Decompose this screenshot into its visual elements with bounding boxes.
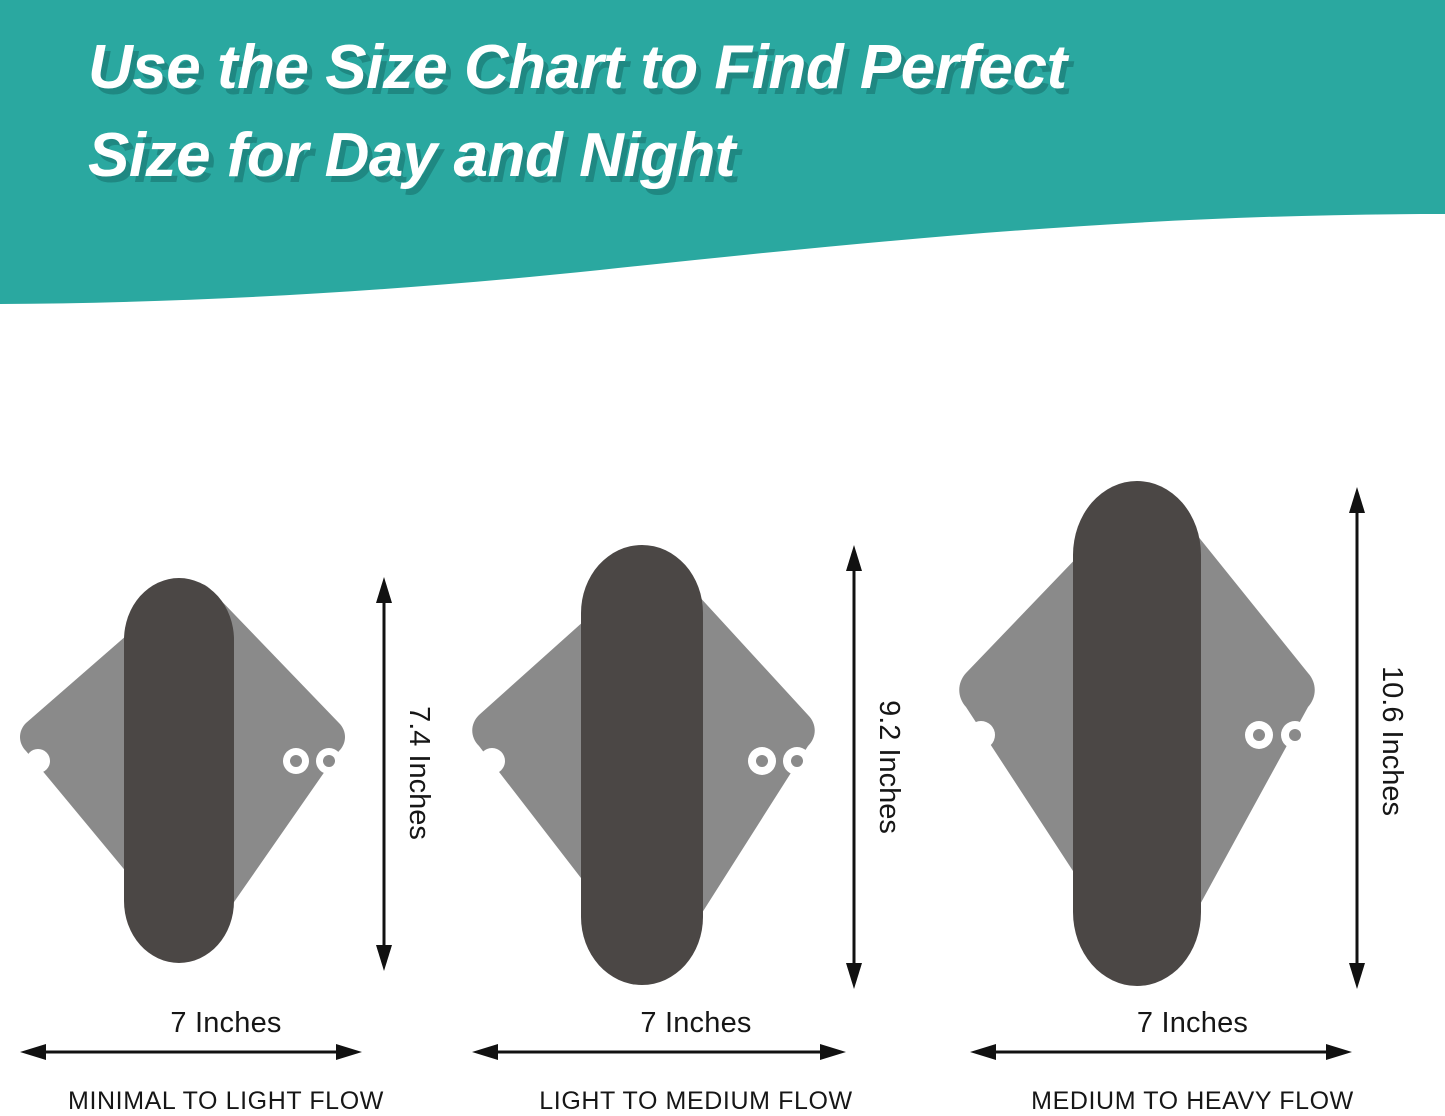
width-dimension-medium: 7 Inches: [452, 1007, 940, 1063]
snap-left-medium: [479, 748, 505, 774]
pad-core-large: [1073, 481, 1201, 986]
flow-label-large: MEDIUM TO HEAVY FLOW: [1031, 1087, 1354, 1116]
pad-figure-medium: 9.2 Inches: [452, 533, 940, 1003]
size-chart-page: Use the Size Chart to Find Perfect Size …: [0, 0, 1445, 1116]
pad-figure-small: 7.4 Inches: [0, 563, 452, 1003]
pad-core-medium: [581, 545, 703, 985]
pad-illustration-medium: 9.2 Inches: [456, 533, 936, 1003]
snap-left-large: [967, 721, 995, 749]
width-label-small: 7 Inches: [0, 1007, 452, 1040]
header-banner: Use the Size Chart to Find Perfect Size …: [0, 0, 1445, 320]
width-dimension-small: 7 Inches: [0, 1007, 452, 1063]
height-dimension-large: [1349, 487, 1365, 989]
height-label-medium: 9.2 Inches: [873, 700, 905, 834]
width-arrow-medium: [452, 1041, 940, 1063]
pad-column-small: 7.4 Inches 7 Inches MINIMAL TO LIGHT FLO…: [0, 563, 452, 1116]
pad-column-medium: 9.2 Inches 7 Inches LIGHT TO MEDIUM FLOW: [452, 533, 940, 1116]
height-label-small: 7.4 Inches: [403, 706, 435, 840]
width-dimension-large: 7 Inches: [940, 1007, 1445, 1063]
flow-label-medium: LIGHT TO MEDIUM FLOW: [539, 1087, 852, 1116]
height-label-large: 10.6 Inches: [1376, 666, 1408, 816]
pad-column-large: 10.6 Inches 7 Inches MEDIUM TO HEAVY FLO…: [940, 473, 1445, 1116]
height-dimension-small: [376, 577, 392, 971]
width-arrow-small: [0, 1041, 452, 1063]
page-title: Use the Size Chart to Find Perfect Size …: [88, 24, 1388, 200]
flow-label-small: MINIMAL TO LIGHT FLOW: [68, 1087, 384, 1116]
snap-left-small: [26, 749, 50, 773]
pads-row: 7.4 Inches 7 Inches MINIMAL TO LIGHT FLO…: [0, 470, 1445, 1116]
pad-figure-large: 10.6 Inches: [940, 473, 1445, 1003]
width-arrow-large: [940, 1041, 1445, 1063]
height-dimension-medium: [846, 545, 862, 989]
pad-illustration-small: 7.4 Inches: [6, 563, 446, 1003]
pad-illustration-large: 10.6 Inches: [943, 473, 1443, 1003]
pad-core-small: [124, 578, 234, 963]
width-label-medium: 7 Inches: [452, 1007, 940, 1040]
width-label-large: 7 Inches: [940, 1007, 1445, 1040]
